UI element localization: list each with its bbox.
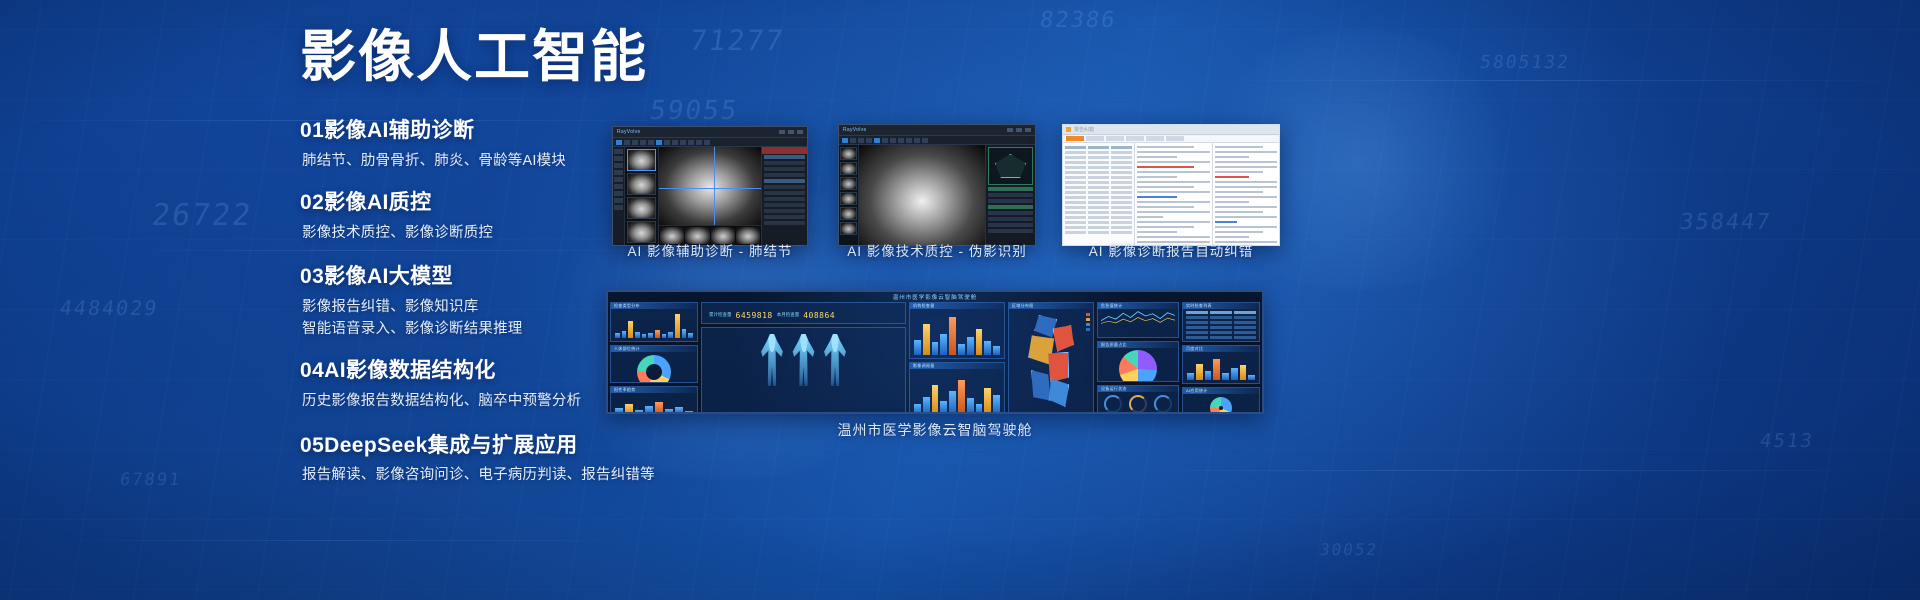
donut-chart bbox=[1210, 397, 1232, 414]
bar-chart bbox=[913, 369, 1001, 415]
tab-item[interactable] bbox=[1106, 136, 1124, 141]
region-map-card[interactable]: 区域分布图 bbox=[1008, 302, 1094, 414]
table-row bbox=[1186, 326, 1256, 329]
finding-row[interactable] bbox=[764, 179, 805, 183]
crosshair-horizontal bbox=[659, 188, 761, 189]
kpi-strip: 累计报告量 5805132 本月报告量 358447 bbox=[705, 322, 902, 324]
qc-score-row bbox=[988, 187, 1033, 191]
finding-row[interactable] bbox=[764, 221, 805, 225]
dashboard-column: 累计检查量 6459818 本月检查量 408864 累计报告量 5805132 bbox=[701, 302, 906, 414]
table-row bbox=[1186, 341, 1256, 342]
card-title: 区域分布图 bbox=[1009, 303, 1093, 309]
dashboard-card[interactable]: 影像调阅量 bbox=[909, 362, 1005, 415]
tab-bar[interactable] bbox=[1063, 135, 1279, 143]
kpi-item: 累计检查量 bbox=[709, 312, 732, 319]
series-thumbnail[interactable] bbox=[627, 197, 656, 219]
card-title: 影像调阅量 bbox=[910, 363, 1004, 369]
dashboard-card[interactable]: 报告质量占比 bbox=[1097, 341, 1179, 382]
bar-chart bbox=[913, 309, 1001, 355]
finding-row[interactable] bbox=[764, 209, 805, 213]
human-figure-icon bbox=[791, 334, 817, 386]
card-title: 机构检查量 bbox=[910, 303, 1004, 309]
series-thumbnail[interactable] bbox=[627, 149, 656, 171]
app-titlebar: 报告纠错 bbox=[1063, 125, 1279, 135]
qc-body bbox=[839, 145, 1035, 245]
tab-item[interactable] bbox=[1166, 136, 1184, 141]
card-title: 实时检查列表 bbox=[1183, 303, 1259, 309]
close-icon[interactable] bbox=[1025, 128, 1031, 132]
minimize-icon[interactable] bbox=[779, 130, 785, 134]
tab-item[interactable] bbox=[1086, 136, 1104, 141]
series-thumbnail-list[interactable] bbox=[625, 147, 659, 245]
qc-score-row bbox=[988, 229, 1033, 233]
gauge-icon bbox=[1129, 395, 1147, 413]
radar-polygon bbox=[995, 154, 1026, 178]
dashboard-column: 机构检查量 影像调阅量 bbox=[909, 302, 1005, 414]
donut-chart bbox=[637, 355, 671, 383]
kpi-strip: 累计检查量 6459818 本月检查量 408864 bbox=[705, 309, 902, 322]
findings-panel-header bbox=[762, 147, 807, 154]
table-row bbox=[1186, 336, 1256, 339]
finding-row[interactable] bbox=[764, 161, 805, 165]
finding-row[interactable] bbox=[764, 185, 805, 189]
app-name-label: 报告纠错 bbox=[1074, 126, 1094, 133]
dashboard-card[interactable]: 人体部位统计 bbox=[610, 345, 698, 383]
qc-thumbnail[interactable] bbox=[840, 207, 857, 220]
kpi-label: 本月检查量 bbox=[777, 312, 800, 319]
app-name-label: RayVolve bbox=[617, 129, 641, 135]
human-figure-icon bbox=[759, 334, 785, 386]
human-figure-icon bbox=[822, 334, 848, 386]
dashboard-card[interactable]: 实时检查列表 bbox=[1182, 302, 1260, 342]
series-thumbnail[interactable] bbox=[627, 173, 656, 195]
dashboard-column: 检查类型分布 人体部位统计 阳性率趋势 bbox=[610, 302, 698, 414]
dashboard-column: 实时检查列表 月度对比 bbox=[1182, 302, 1260, 414]
dashboard-card[interactable]: 阳性率趋势 bbox=[610, 386, 698, 414]
bar-chart bbox=[614, 309, 694, 338]
card-title: 设备运行状态 bbox=[1098, 386, 1178, 392]
app-logo-icon bbox=[1066, 127, 1071, 132]
table-row bbox=[1186, 331, 1256, 334]
app-toolbar[interactable] bbox=[613, 138, 807, 147]
kpi-value: 6459818 bbox=[736, 311, 773, 320]
finding-row[interactable] bbox=[764, 203, 805, 207]
worklist-pane[interactable] bbox=[1063, 143, 1135, 245]
finding-row[interactable] bbox=[764, 215, 805, 219]
kpi-card[interactable]: 累计检查量 6459818 本月检查量 408864 累计报告量 5805132 bbox=[701, 302, 906, 324]
qc-main-image[interactable] bbox=[859, 145, 985, 245]
feature-title: 03影像AI大模型 bbox=[300, 262, 720, 292]
table-row bbox=[1186, 311, 1256, 314]
card-title: 报告质量占比 bbox=[1098, 342, 1178, 348]
bar-chart bbox=[614, 393, 694, 414]
dashboard-card[interactable]: 设备运行状态 bbox=[1097, 385, 1179, 414]
report-body bbox=[1063, 143, 1279, 245]
tool-rail[interactable] bbox=[613, 147, 625, 245]
tab-item[interactable] bbox=[1146, 136, 1164, 141]
bar-chart bbox=[1186, 352, 1256, 381]
card-title: 检查类型分布 bbox=[611, 303, 697, 309]
finding-row[interactable] bbox=[764, 167, 805, 171]
dashboard-card[interactable]: 月度对比 bbox=[1182, 345, 1260, 385]
gauge-icon bbox=[1154, 395, 1172, 413]
qc-analysis-panel[interactable] bbox=[985, 145, 1035, 245]
pie-chart bbox=[1119, 350, 1157, 382]
dashboard-caption: 温州市医学影像云智脑驾驶舱 bbox=[606, 420, 1264, 440]
dashboard-column: 危急值统计 报告质量占比 设备运行状态 bbox=[1097, 302, 1179, 414]
report-text-pane[interactable] bbox=[1135, 143, 1213, 245]
qc-score-row bbox=[988, 223, 1033, 227]
table-row bbox=[1186, 321, 1256, 324]
screenshot-caption: AI 影像诊断报告自动纠错 bbox=[1052, 240, 1290, 260]
map-region[interactable] bbox=[1053, 325, 1074, 352]
qc-thumbnail[interactable] bbox=[840, 147, 857, 160]
gauge-icon bbox=[1104, 395, 1122, 413]
card-title: 人体部位统计 bbox=[611, 346, 697, 352]
app-toolbar[interactable] bbox=[839, 136, 1035, 145]
gauge-row bbox=[1101, 392, 1175, 413]
screenshot-dashboard[interactable]: 温州市医学影像云智脑驾驶舱 检查类型分布 人体部位统计 bbox=[606, 290, 1264, 414]
qc-thumbnail[interactable] bbox=[840, 162, 857, 175]
data-table[interactable] bbox=[1186, 309, 1256, 342]
page-title: 影像人工智能 bbox=[300, 24, 720, 90]
feature-description: 报告解读、影像咨询问诊、电子病历判读、报告纠错等 bbox=[300, 465, 720, 487]
maximize-icon[interactable] bbox=[1016, 128, 1022, 132]
kpi-value: 408864 bbox=[803, 311, 835, 320]
dashboard-root: 温州市医学影像云智脑驾驶舱 检查类型分布 人体部位统计 bbox=[608, 292, 1262, 412]
dashboard-column: 区域分布图 bbox=[1008, 302, 1094, 414]
dashboard-title: 温州市医学影像云智脑驾驶舱 bbox=[610, 294, 1260, 302]
app-titlebar: RayVolve bbox=[613, 127, 807, 138]
finding-row[interactable] bbox=[764, 173, 805, 177]
minimize-icon[interactable] bbox=[1007, 128, 1013, 132]
maximize-icon[interactable] bbox=[788, 130, 794, 134]
qc-score-row bbox=[988, 217, 1033, 221]
dashboard-card[interactable]: 危急值统计 bbox=[1097, 302, 1179, 338]
screenshot-ct-viewer[interactable]: RayVolve bbox=[612, 126, 808, 246]
sparkline-svg bbox=[1101, 309, 1175, 325]
findings-panel[interactable] bbox=[761, 147, 807, 245]
dashboard-card[interactable]: 机构检查量 bbox=[909, 302, 1005, 359]
app-titlebar: RayVolve bbox=[839, 125, 1035, 136]
correction-suggestion-pane[interactable] bbox=[1213, 143, 1279, 245]
qc-thumbnail[interactable] bbox=[840, 222, 857, 235]
close-icon[interactable] bbox=[797, 130, 803, 134]
table-row bbox=[1186, 316, 1256, 319]
line-chart bbox=[1101, 309, 1175, 325]
dashboard-card[interactable]: AI应用统计 bbox=[1182, 387, 1260, 414]
ct-main-view[interactable] bbox=[659, 147, 761, 245]
qc-score-row bbox=[988, 199, 1033, 203]
tab-item[interactable] bbox=[1066, 136, 1084, 141]
map-region[interactable] bbox=[1049, 378, 1069, 407]
qc-thumbnail[interactable] bbox=[840, 192, 857, 205]
kpi-label: 累计检查量 bbox=[709, 312, 732, 319]
screenshot-caption: AI 影像辅助诊断 - 肺结节 bbox=[612, 240, 808, 260]
qc-score-row bbox=[988, 205, 1033, 209]
card-title: AI应用统计 bbox=[1183, 388, 1259, 394]
qc-score-row bbox=[988, 211, 1033, 215]
screenshot-artifact-qc[interactable]: RayVolve bbox=[838, 124, 1036, 246]
finding-row[interactable] bbox=[764, 197, 805, 201]
base-ring bbox=[767, 327, 841, 328]
dashboard-grid: 检查类型分布 人体部位统计 阳性率趋势 bbox=[610, 302, 1260, 414]
card-title: 阳性率趋势 bbox=[611, 387, 697, 393]
qc-radar-chart bbox=[988, 147, 1033, 185]
viewer-body bbox=[613, 147, 807, 245]
map-region[interactable] bbox=[1046, 352, 1069, 383]
map-region[interactable] bbox=[1034, 315, 1057, 337]
dashboard-card[interactable]: 检查类型分布 bbox=[610, 302, 698, 342]
tab-item[interactable] bbox=[1126, 136, 1144, 141]
qc-thumbnail[interactable] bbox=[840, 177, 857, 190]
finding-row[interactable] bbox=[764, 155, 805, 159]
map-region[interactable] bbox=[1031, 370, 1051, 401]
card-title: 月度对比 bbox=[1183, 346, 1259, 352]
finding-row[interactable] bbox=[764, 191, 805, 195]
screenshot-caption: AI 影像技术质控 - 伪影识别 bbox=[828, 240, 1046, 260]
human-model-card[interactable] bbox=[701, 327, 906, 414]
app-name-label: RayVolve bbox=[843, 127, 867, 133]
screenshot-report-correction[interactable]: 报告纠错 bbox=[1062, 124, 1280, 246]
kpi-item: 本月检查量 bbox=[777, 312, 800, 319]
feature-description-line: 报告解读、影像咨询问诊、电子病历判读、报告纠错等 bbox=[302, 465, 720, 487]
ct-axial-image[interactable] bbox=[659, 147, 761, 225]
qc-thumbnail-list[interactable] bbox=[839, 145, 859, 245]
map-legend bbox=[1086, 313, 1090, 333]
region-map[interactable] bbox=[1013, 311, 1089, 413]
qc-score-row bbox=[988, 193, 1033, 197]
crosshair-vertical bbox=[714, 147, 715, 225]
